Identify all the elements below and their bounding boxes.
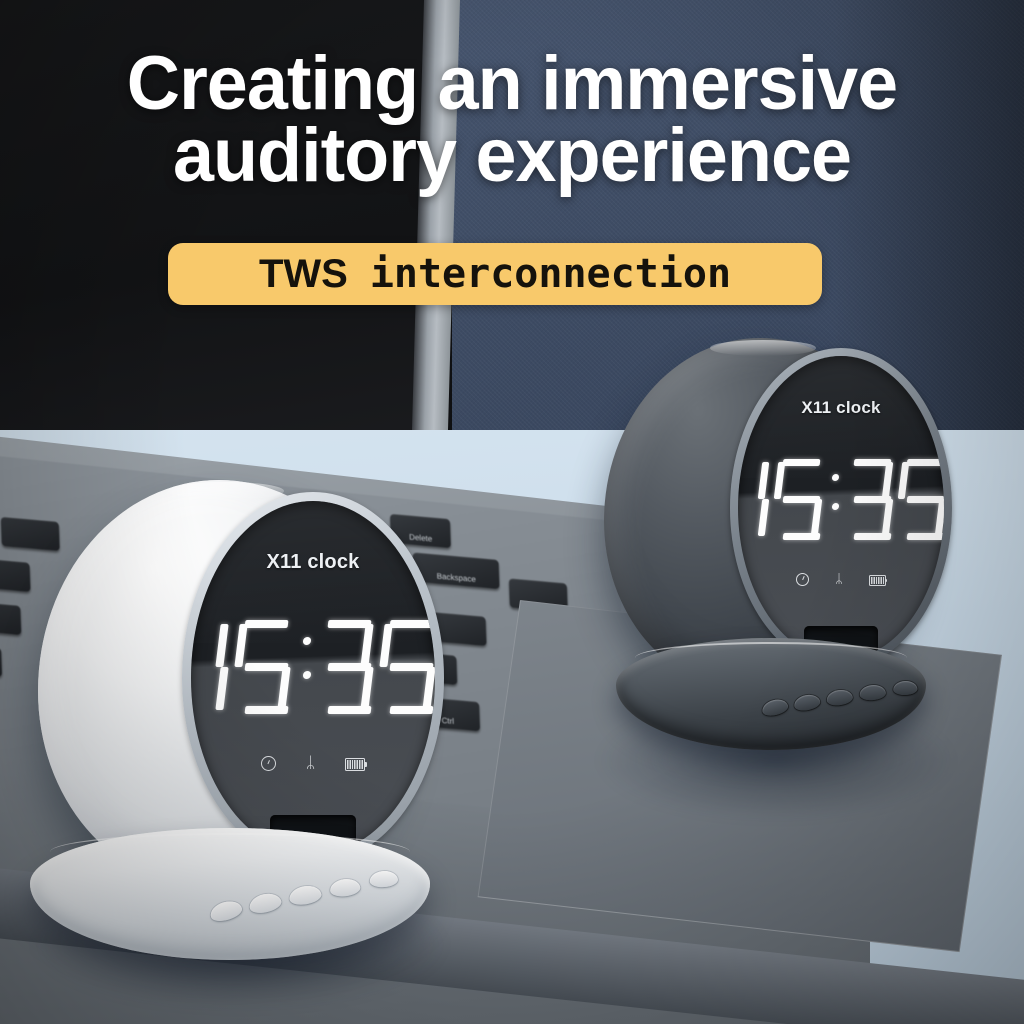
battery-icon [345, 758, 365, 771]
play-button[interactable] [826, 688, 854, 706]
banner-text-secondary: interconnection [370, 251, 731, 297]
white-button-row[interactable] [210, 902, 400, 920]
white-display-time [191, 603, 435, 731]
led-colon [303, 620, 311, 714]
key-generic-l [0, 558, 31, 592]
advertisement-poster: Delete Backspace Ctrl Alt X11 clock [0, 0, 1024, 1024]
alarm-icon [261, 756, 276, 771]
headline: Creating an immersive auditory experienc… [15, 48, 1008, 192]
black-base-lip [635, 642, 908, 674]
black-clock-speaker[interactable]: X11 clock ᛦ [596, 330, 956, 790]
white-status-bar: ᛦ [191, 745, 435, 771]
play-button[interactable] [288, 884, 323, 907]
next-button[interactable] [329, 877, 361, 898]
bluetooth-icon: ᛦ [306, 755, 316, 771]
mode-button[interactable] [369, 870, 398, 888]
white-display-brand: X11 clock [191, 551, 435, 574]
led-digit [241, 620, 292, 714]
black-display-brand: X11 clock [738, 398, 944, 418]
key-generic-n [0, 643, 2, 677]
key-generic-m [0, 601, 21, 635]
power-button[interactable] [208, 898, 244, 924]
banner-text-primary: TWS [259, 252, 348, 297]
led-digit [779, 459, 823, 540]
white-device-top-highlight [168, 482, 284, 500]
alarm-icon [796, 573, 809, 586]
mode-button[interactable] [893, 680, 917, 695]
next-button[interactable] [859, 684, 886, 701]
white-device-base [30, 828, 430, 960]
bluetooth-icon: ᛦ [835, 573, 843, 586]
led-digit [386, 620, 436, 714]
black-status-bar: ᛦ [738, 564, 944, 586]
white-display: X11 clock ᛦ [191, 501, 435, 855]
headline-line-2: auditory experience [15, 120, 1008, 192]
black-button-row[interactable] [762, 700, 918, 715]
white-base-lip [50, 833, 410, 871]
led-digit [324, 620, 375, 714]
white-clock-speaker[interactable]: X11 clock ᛦ [30, 470, 450, 990]
led-digit [738, 459, 770, 540]
tws-banner: TWS interconnection [168, 243, 822, 305]
black-display: X11 clock ᛦ [738, 356, 944, 660]
led-colon [832, 459, 839, 540]
led-digit [191, 620, 230, 714]
prev-button[interactable] [248, 891, 283, 916]
prev-button[interactable] [793, 693, 821, 713]
led-digit [903, 459, 944, 540]
black-device-top-highlight [710, 340, 816, 356]
black-display-time [738, 444, 944, 554]
black-device-base [616, 638, 926, 750]
led-digit [850, 459, 894, 540]
power-button[interactable] [761, 697, 790, 718]
battery-icon [869, 575, 886, 586]
